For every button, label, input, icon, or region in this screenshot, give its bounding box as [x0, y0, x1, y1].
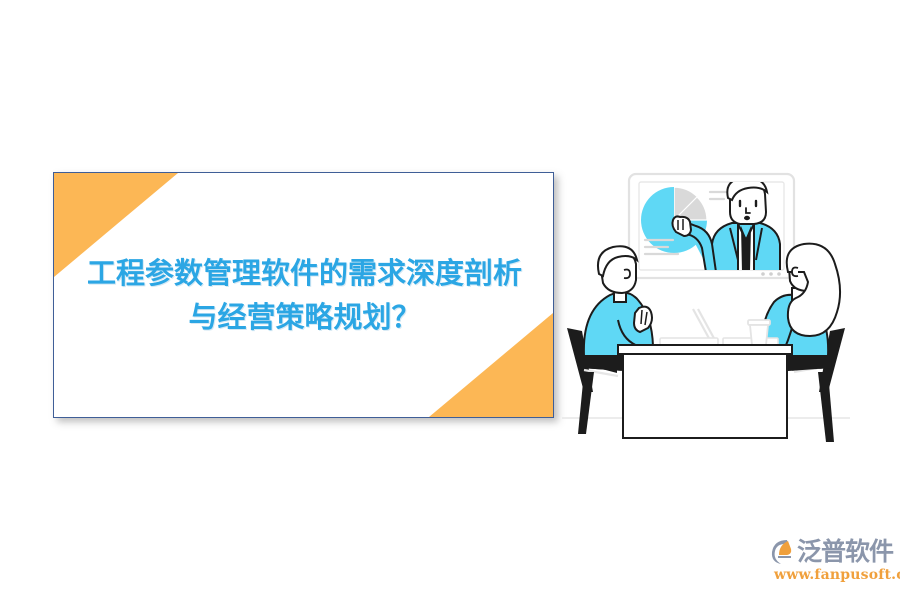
title-card: 工程参数管理软件的需求深度剖析 与经营策略规划？ — [53, 172, 554, 418]
presenter-mouth — [744, 216, 750, 220]
brand-website: www.fanpusoft.com — [774, 567, 894, 584]
attendee-right-ear — [792, 268, 798, 277]
page-title-line-2: 与经营策略规划？ — [51, 295, 558, 339]
video-conference-meeting-illustration — [560, 160, 885, 452]
chair-right-leg — [818, 372, 834, 442]
fanpu-logo-mark-icon — [766, 537, 796, 567]
chair-left-leg — [578, 372, 594, 434]
laptop-screen-edge-2 — [698, 309, 716, 342]
laptop-screen-edge-1 — [693, 309, 711, 342]
coffee-cup — [748, 320, 770, 345]
illustration-svg — [560, 160, 885, 452]
brand-name: 泛普软件 — [797, 537, 893, 567]
laptop-keyboard — [660, 338, 718, 345]
wall-mounted-screen — [629, 174, 794, 278]
attendee-left-ear — [624, 270, 630, 279]
page-title-line-1: 工程参数管理软件的需求深度剖析 — [87, 256, 522, 290]
page-title: 工程参数管理软件的需求深度剖析 与经营策略规划？ — [51, 251, 558, 339]
desk-items — [660, 309, 778, 345]
meeting-table — [618, 345, 792, 438]
table-body — [623, 354, 787, 438]
screen-status-dots — [761, 272, 781, 276]
logo-base-bar — [778, 556, 791, 558]
desk-paper — [723, 338, 778, 345]
brand-logo: 泛普软件 www.fanpusoft.com — [766, 536, 894, 588]
table-top — [618, 345, 792, 354]
brand-logo-row: 泛普软件 — [766, 536, 894, 568]
laptop — [660, 309, 718, 345]
